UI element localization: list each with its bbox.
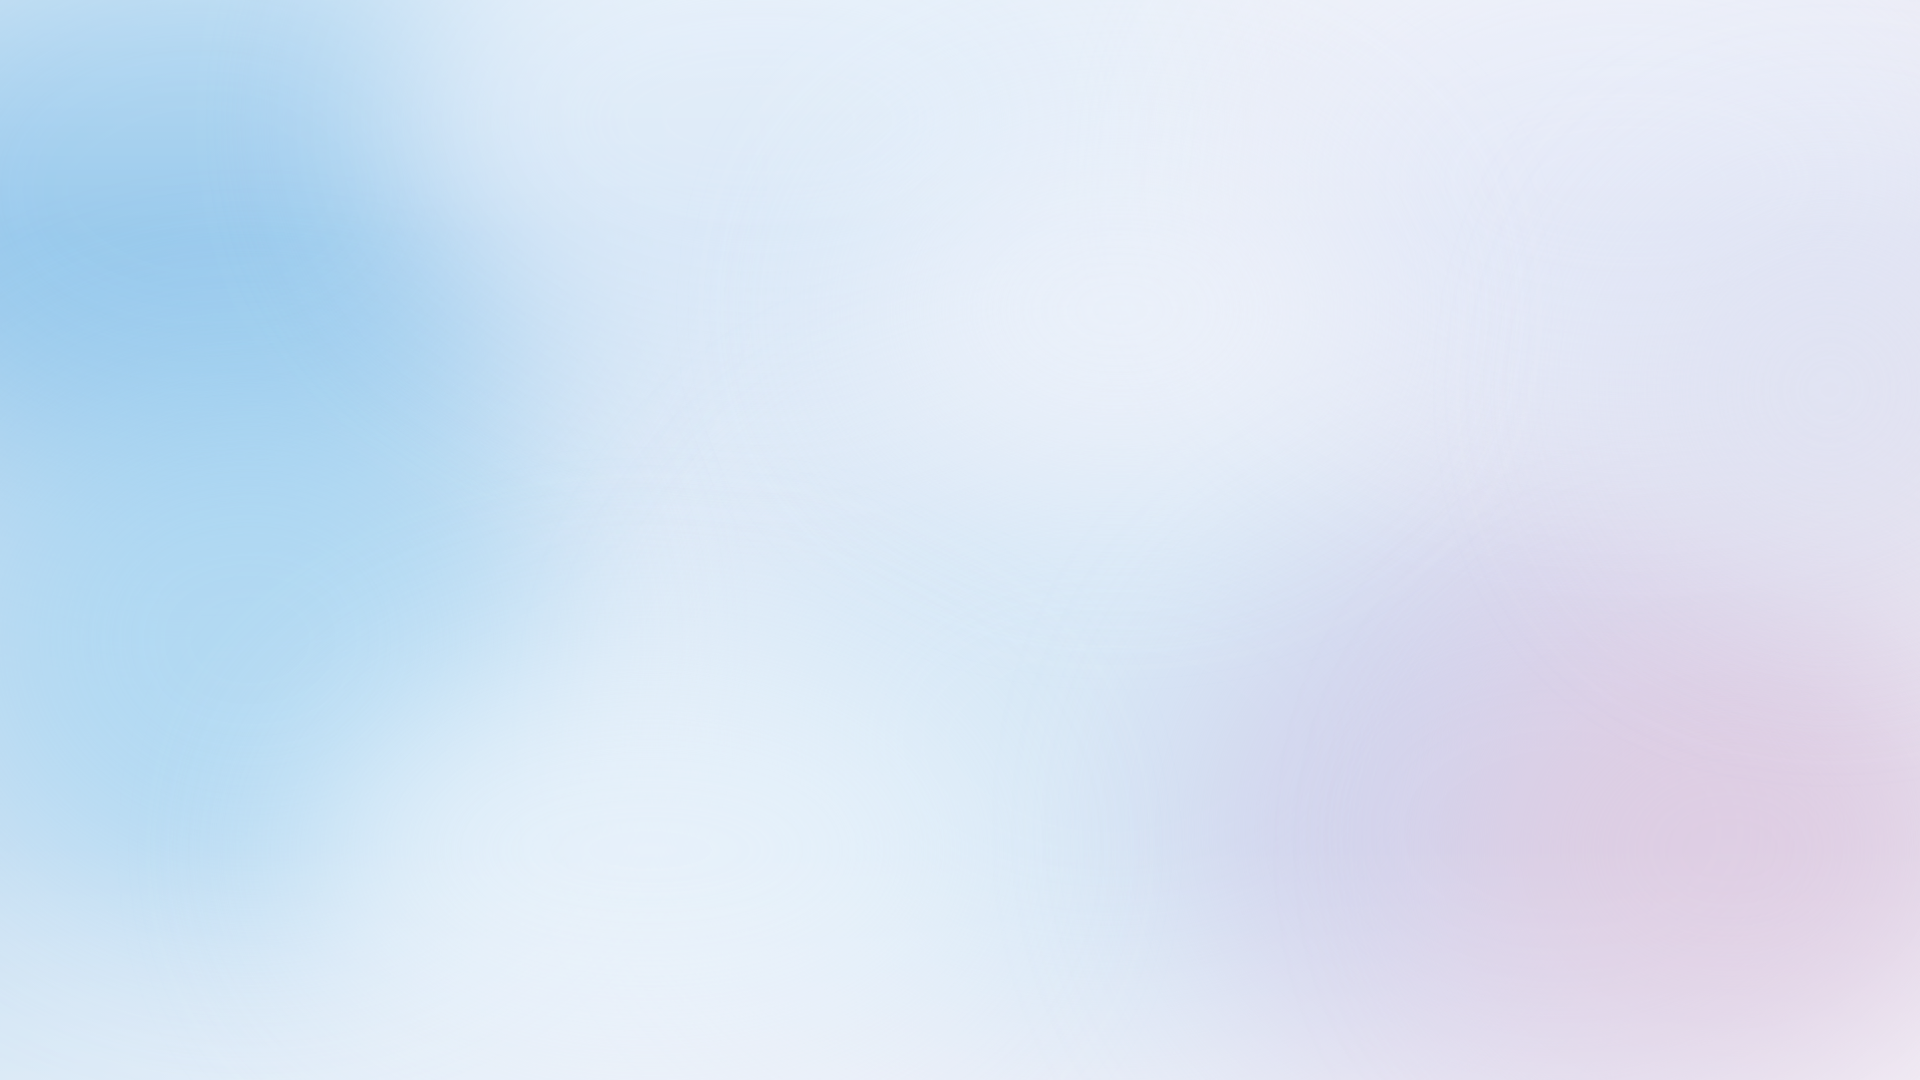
infographic-canvas [0,0,1920,1080]
process-arrow-band [88,366,1832,464]
